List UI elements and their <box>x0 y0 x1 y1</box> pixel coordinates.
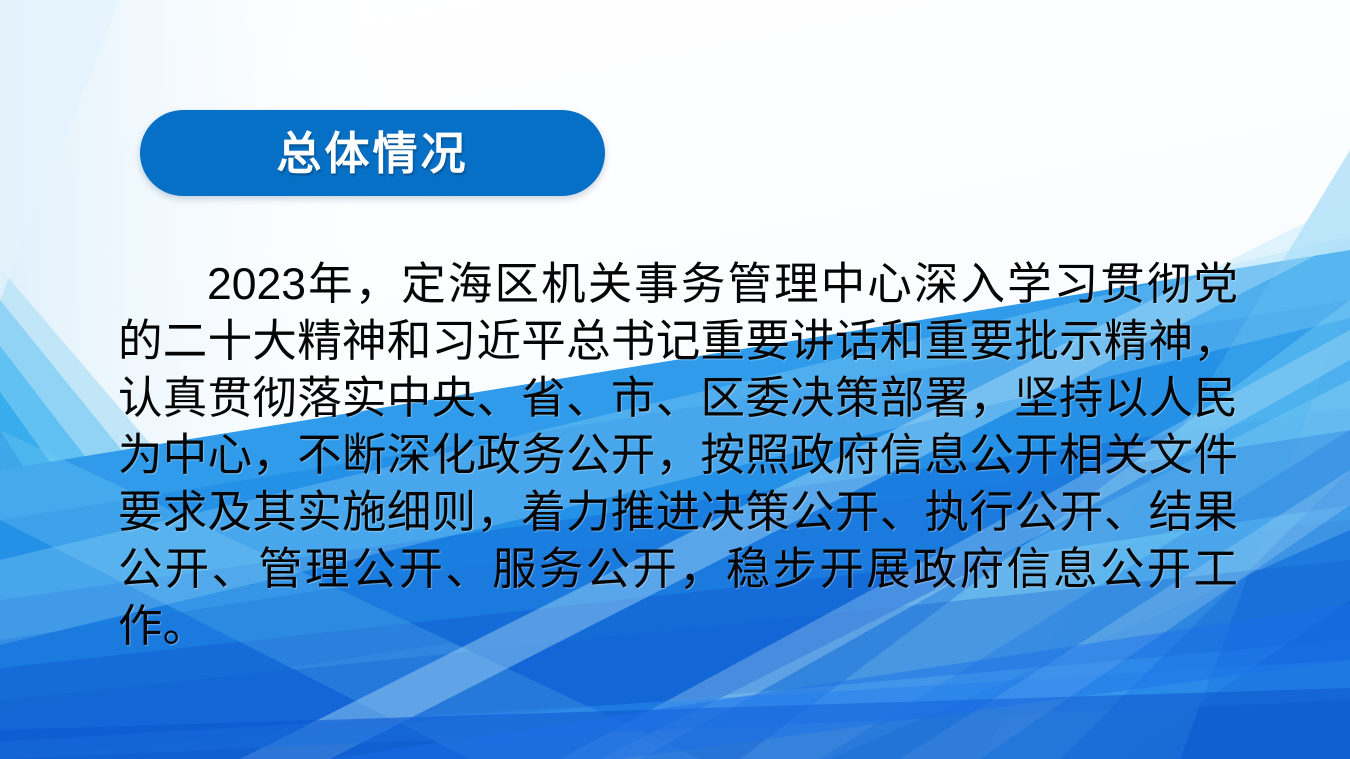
body-paragraph: 2023年，定海区机关事务管理中心深入学习贯彻党的二十大精神和习近平总书记重要讲… <box>118 256 1238 655</box>
section-title-label: 总体情况 <box>276 131 468 176</box>
section-title-pill[interactable]: 总体情况 <box>140 110 605 196</box>
presentation-slide: 总体情况 2023年，定海区机关事务管理中心深入学习贯彻党的二十大精神和习近平总… <box>0 0 1350 759</box>
body-text-block: 2023年，定海区机关事务管理中心深入学习贯彻党的二十大精神和习近平总书记重要讲… <box>118 256 1238 655</box>
